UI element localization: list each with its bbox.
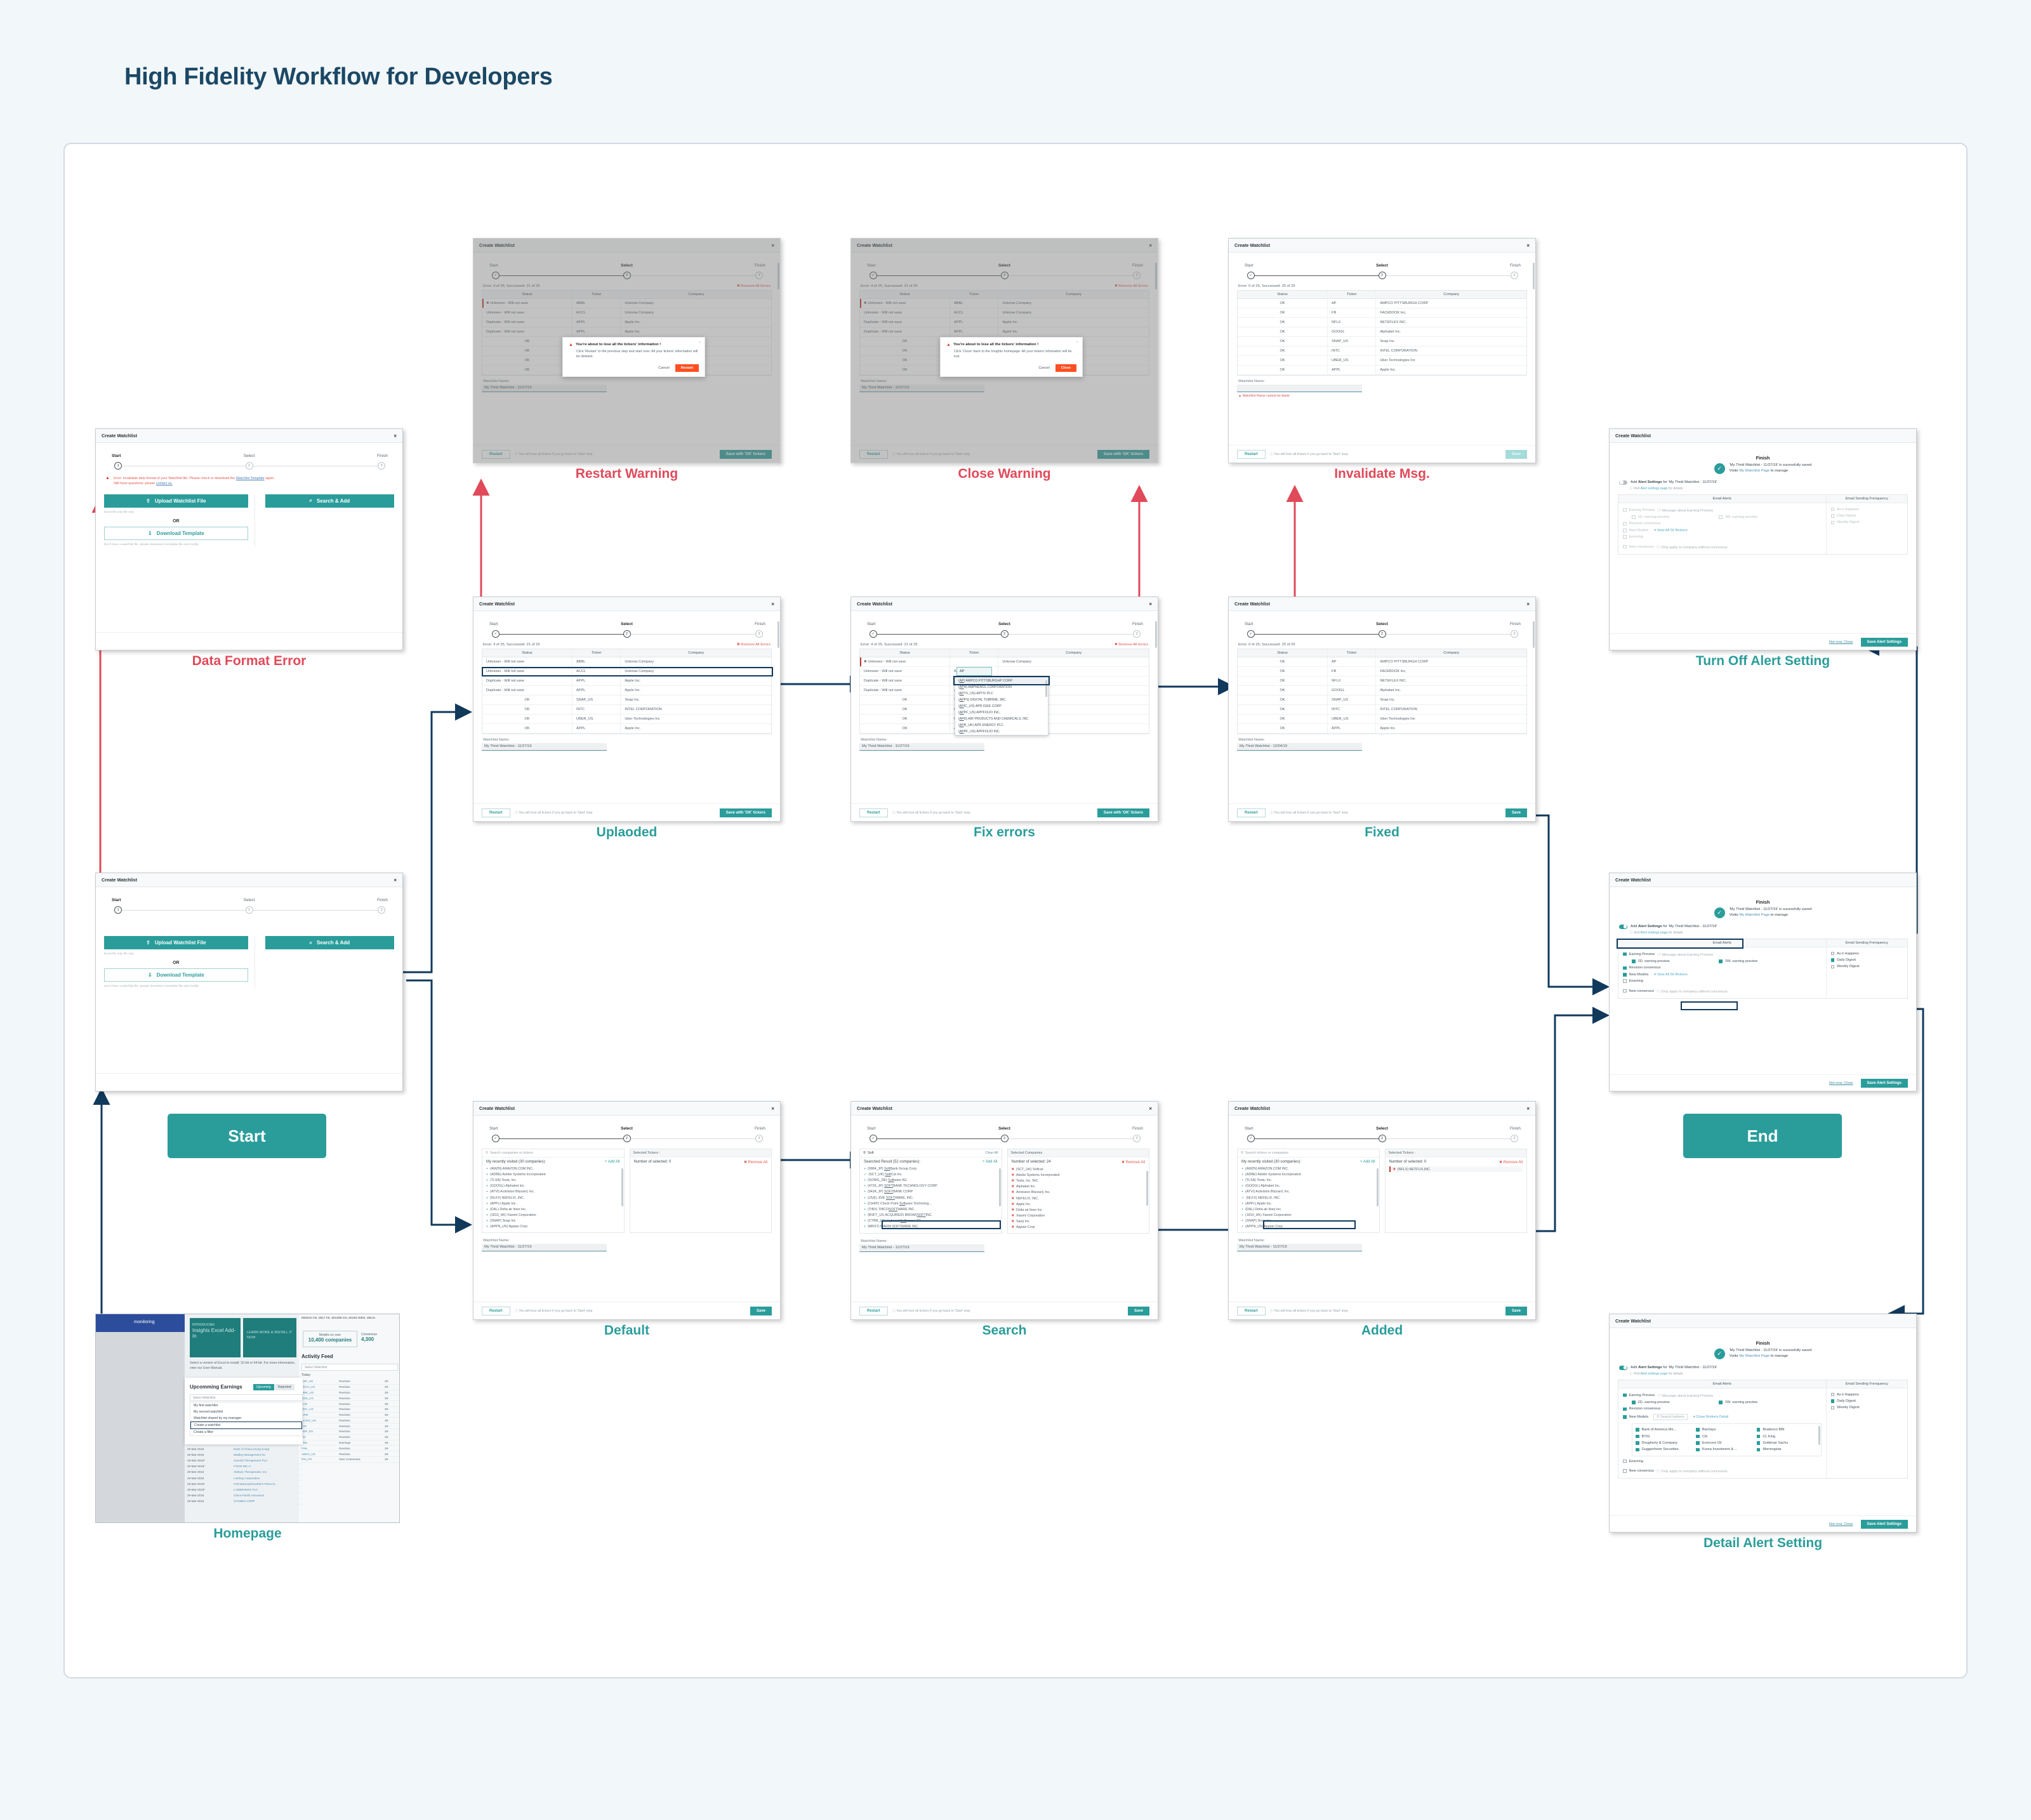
checkbox-frequency[interactable]: As it Happens [1831, 1392, 1903, 1398]
watchlist-name-input[interactable]: My Thrid Watchlist - 11/27/19 [859, 743, 984, 751]
promo-card[interactable]: INTRODUCINGInsights Excel Add-In [190, 1318, 241, 1357]
plus-icon[interactable]: + [1241, 1225, 1243, 1229]
cell-ticker[interactable]: ACCL [949, 308, 998, 317]
table-row[interactable]: OKGOOGLAlphabet Inc. [1238, 327, 1526, 337]
remove-all-errors-button[interactable]: ✖ Remove All Errors [1115, 643, 1148, 647]
search-input[interactable]: ⚲SoftClear All [860, 1149, 1002, 1157]
remove-all-errors-button[interactable]: ✖ Remove All Errors [737, 643, 771, 647]
list-item[interactable]: ✖(SCT_UK) Softcat [1012, 1166, 1146, 1172]
ticker-edit-input[interactable]: AP [956, 667, 992, 676]
table-scrollbar[interactable] [777, 263, 779, 289]
list-item[interactable]: +(TLSA) Tesla, Inc. [486, 1177, 620, 1183]
plus-icon[interactable]: + [486, 1202, 488, 1206]
list-item[interactable]: +(APPN_US) Appian Corp [486, 1224, 620, 1230]
checkbox-broker[interactable]: Evercore ISI [1696, 1440, 1756, 1446]
activity-row[interactable]: BDC_USRevision30- [301, 1407, 400, 1413]
alert-settings-toggle[interactable] [1619, 480, 1627, 485]
table-row[interactable]: ✖ Unknown - Will not saveABBLUnknow Comp… [482, 299, 771, 308]
close-icon[interactable]: × [771, 601, 774, 607]
checkbox-broker[interactable]: Dougherty & Company [1636, 1440, 1696, 1446]
list-item[interactable]: +(1810_HK) Xiaomi Corporation [1241, 1213, 1375, 1218]
restart-button[interactable]: Restart [859, 450, 888, 459]
plus-icon[interactable]: + [1241, 1167, 1243, 1171]
add-all-button[interactable]: + Add All [605, 1160, 620, 1164]
checkbox-frequency[interactable]: Daily Digest [1831, 1398, 1903, 1404]
list-item[interactable]: +(9984_JP) SoftBank Group Corp. [864, 1166, 998, 1171]
checkbox-broker[interactable]: Bank of America Me... [1636, 1427, 1696, 1433]
remove-icon[interactable]: ✖ [1012, 1220, 1014, 1223]
menu-item[interactable]: Create a filter [190, 1429, 302, 1435]
restart-button[interactable]: Restart [1237, 808, 1266, 817]
table-row[interactable]: Unknown - Will not saveACCL [860, 667, 1149, 676]
watchlist-name-input[interactable]: My Thrid Watchlist - 11/27/19 [482, 1244, 607, 1251]
cell-ticker[interactable]: UBER_US [572, 715, 621, 723]
table-row[interactable]: Duplicate - Will not saveAPPLApple Inc. [482, 318, 771, 327]
checkbox-broker[interactable]: Guggenheim Securities [1636, 1446, 1696, 1453]
remove-all-button[interactable]: ✖ Remove All [1121, 1160, 1145, 1164]
dropdown-option[interactable]: (APPF_US) APPFOLIO INC. [955, 709, 1048, 716]
watchlist-dropdown-menu[interactable]: My first watchlistMy second watchlistWat… [190, 1402, 303, 1436]
tab-upcoming[interactable]: Upcoming [253, 1384, 274, 1390]
brokers-scrollbar[interactable] [1818, 1426, 1820, 1445]
cell-ticker[interactable]: APPL [572, 676, 621, 685]
ticker-suggestions-dropdown[interactable]: (AP) AMPCO PITTSBURGHP CORP(APH) AMPHENO… [955, 677, 1049, 735]
plus-icon[interactable]: + [1241, 1178, 1243, 1182]
earnings-row[interactable]: 29-Mar-2018Lindsay Corporation [187, 1475, 303, 1481]
remove-icon[interactable]: ✖ [1012, 1168, 1014, 1171]
upload-watchlist-file-button[interactable]: ⇧Upload Watchlist File [104, 936, 248, 949]
checkbox-earning-preview[interactable]: Earning Previewⓘ Message about Earning P… [1623, 506, 1822, 514]
remove-icon[interactable]: ✖ [1012, 1214, 1014, 1218]
list-item[interactable]: +(9434_JP) SOFTBANK CORP [864, 1189, 998, 1195]
save-with-ok-tickers-button[interactable]: Save with 'OK' tickers [720, 450, 772, 459]
dropdown-option[interactable]: (APD) AIR PRODUCTS AND CHEMICALS, INC [955, 716, 1048, 722]
remove-all-errors-button[interactable]: ✖ Remove All Errors [737, 284, 771, 288]
earnings-row[interactable]: 29-Mar-2018Aldeyra Therapeutics, Inc [187, 1470, 303, 1475]
table-row[interactable]: Unknown - Will not saveABBLUnknow Compan… [482, 657, 771, 667]
list-item[interactable]: +(JIVE) JIVE SOFTWARE, INC. [864, 1195, 998, 1201]
table-row[interactable]: Duplicate - Will not saveAPPLApple Inc. [860, 327, 1149, 337]
download-template-button[interactable]: ⇩Download Template [104, 527, 248, 540]
restart-button[interactable]: Restart [482, 808, 510, 817]
list-item[interactable]: +(SNAP) Snap Inc [486, 1218, 620, 1224]
plus-icon[interactable]: + [864, 1167, 866, 1171]
promo-cta[interactable]: LEARN MORE & INSTALL IT NOW [243, 1318, 296, 1357]
checkbox-broker[interactable]: Citi [1696, 1433, 1756, 1439]
checkbox-2w-earning-preview[interactable]: 2W- earning preview [1719, 514, 1757, 520]
checkbox-revision-consensus[interactable]: Revision consensus [1623, 1406, 1822, 1412]
plus-icon[interactable]: + [864, 1202, 866, 1206]
save-alert-settings-button[interactable]: Save Alert Settings [1861, 1520, 1908, 1529]
checkbox-new-consensus[interactable]: New consensusⓘ Only apply to company wit… [1623, 987, 1822, 994]
list-item[interactable]: ✖NEFELIX, INC. [1012, 1196, 1146, 1201]
step-dot-2[interactable]: 2 [246, 462, 253, 470]
step-dot-3[interactable]: 3 [378, 906, 385, 914]
activity-row[interactable]: RDS_USRevision30- [301, 1395, 400, 1401]
checkbox-frequency[interactable]: As it Happens [1831, 506, 1903, 513]
alert-settings-page-link[interactable]: Alert settings page [1641, 1372, 1668, 1376]
table-row[interactable]: OKAPPLApple Inc. [1238, 366, 1526, 375]
remove-icon[interactable]: ✖ [1012, 1203, 1014, 1206]
add-all-button[interactable]: + Add All [982, 1160, 998, 1164]
table-row[interactable]: OKGOOGLAlphabet Inc. [1238, 686, 1526, 696]
list-item[interactable]: +(4726_JP) SOFTBANK TECHNOLOGY CORP. [864, 1184, 998, 1189]
dialog-confirm-button[interactable]: Close [1055, 364, 1076, 372]
restart-button[interactable]: Restart [1237, 1307, 1266, 1316]
list-item[interactable]: +(APPL) Apple Inc. [1241, 1201, 1375, 1206]
plus-icon[interactable]: + [486, 1190, 488, 1194]
plus-icon[interactable]: + [1241, 1190, 1243, 1194]
earnings-row[interactable]: 29-Mar-2018Bank of China (Hong Kong) [187, 1446, 303, 1452]
checkbox-2w-earning-preview[interactable]: 2W- earning preview [1719, 1399, 1757, 1406]
table-scrollbar[interactable] [777, 621, 779, 648]
checkbox-2d-earning-preview[interactable]: 2D- earning preview [1632, 958, 1719, 965]
save-button[interactable]: Save [1128, 1307, 1149, 1316]
watchlist-name-input[interactable]: My Thrid Watchlist - 11/27/19 [1237, 1244, 1362, 1251]
save-button[interactable]: Save [1505, 808, 1527, 817]
close-icon[interactable]: × [1149, 242, 1152, 248]
restart-button[interactable]: Restart [482, 450, 510, 459]
menu-item[interactable]: Create a watchlist [190, 1421, 302, 1429]
table-scrollbar[interactable] [1155, 263, 1157, 289]
activity-row[interactable]: FINLRevision30- [301, 1446, 400, 1451]
add-all-button[interactable]: + Add All [1360, 1160, 1375, 1164]
list-item[interactable]: ✖Adobe Systems Incorporated [1012, 1172, 1146, 1178]
dialog-confirm-button[interactable]: Restart [675, 364, 699, 372]
plus-icon[interactable]: + [864, 1208, 866, 1211]
checkbox-frequency[interactable]: Daily Digest [1831, 513, 1903, 519]
table-row[interactable]: OKSNAP_USSnap Inc. [482, 696, 771, 705]
step-dot-1[interactable]: 1 [114, 462, 122, 470]
menu-item[interactable]: Watchlist shared by my manager [190, 1415, 302, 1421]
watchlist-name-input[interactable]: My Thrid Watchlist - 11/27/19 [482, 385, 607, 392]
list-item[interactable]: +(AMZN) AMAZON.COM INC. [486, 1166, 620, 1171]
remove-icon[interactable]: ✖ [1012, 1179, 1014, 1183]
table-row[interactable]: OKAPAMPCO PITTSBURGH CORP [1238, 657, 1526, 667]
list-item[interactable]: +(SOWG_DE) Software AG [864, 1177, 998, 1183]
remove-all-button[interactable]: ✖ Remove All [1499, 1160, 1523, 1164]
checkbox-new-consensus[interactable]: New consensusⓘ Only apply to company wit… [1623, 1467, 1822, 1475]
checkbox-frequency[interactable]: Weekly Digest [1831, 519, 1903, 525]
activity-row[interactable]: FINLEarnings30- [301, 1441, 400, 1446]
checkbox-frequency[interactable]: Daily Digest [1831, 957, 1903, 963]
earnings-row[interactable]: 29-Mar-2018*First Bancorp/Southern Pines… [187, 1481, 303, 1487]
plus-icon[interactable]: + [864, 1184, 866, 1188]
checkbox-new-consensus[interactable]: New consensusⓘ Only apply to company wit… [1623, 543, 1822, 550]
list-item[interactable]: ✖Sanp Inc [1012, 1219, 1146, 1225]
checkbox-broker[interactable]: Bradesco BBI [1757, 1427, 1817, 1433]
plus-icon[interactable]: + [864, 1196, 866, 1200]
checkbox-2w-earning-preview[interactable]: 2W- earning preview [1719, 958, 1757, 965]
alert-settings-toggle[interactable] [1619, 925, 1627, 929]
plus-icon[interactable]: + [1241, 1213, 1243, 1217]
table-row[interactable]: Duplicate - Will not saveAPPLApple Inc. [482, 327, 771, 337]
close-icon[interactable]: × [1149, 1105, 1152, 1111]
activity-row[interactable]: COFRevision30- [301, 1401, 400, 1407]
dropdown-option[interactable]: (APR_UK) APR ENERGY PLC [955, 722, 1048, 729]
plus-icon[interactable]: + [864, 1219, 866, 1223]
alert-settings-page-link[interactable]: Alert settings page [1641, 487, 1668, 491]
watchlist-name-input[interactable]: My Thrid Watchlist - 12/04/19 [1237, 743, 1362, 751]
dialog-close-icon[interactable]: × [698, 341, 701, 345]
restart-button[interactable]: Restart [1237, 450, 1266, 459]
list-item[interactable]: ✓(NLFX) NEFELIX, INC. [1241, 1195, 1375, 1201]
cell-ticker[interactable]: APPL [949, 327, 998, 336]
search-and-add-button[interactable]: ⌕Search & Add [265, 494, 394, 508]
watchlist-name-input[interactable]: My Thrid Watchlist - 11/27/19 [482, 743, 607, 751]
table-row[interactable]: OKUBER_USUber Technologies Inc [1238, 715, 1526, 724]
checkbox-earning-preview[interactable]: Earning Previewⓘ Message about Earning P… [1623, 1392, 1822, 1399]
plus-icon[interactable]: + [486, 1178, 488, 1182]
save-button[interactable]: Save [750, 1307, 772, 1316]
table-row[interactable]: Unknown - Will not saveACCLUnknow Compan… [860, 308, 1149, 318]
list-item[interactable]: ✖Delta air lines Inc. [1012, 1207, 1146, 1213]
step-dot-2[interactable]: 2 [623, 272, 631, 279]
restart-button[interactable]: Restart [482, 1307, 510, 1316]
checkbox-frequency[interactable]: As it Happens [1831, 951, 1903, 957]
checkbox-broker[interactable]: Barclays [1696, 1427, 1756, 1433]
table-row[interactable]: ✖ Unknown - Will not saveABBLUnknow Comp… [860, 299, 1149, 308]
activity-row[interactable]: BGRevision30- [301, 1435, 400, 1441]
step-dot-2[interactable]: 2 [246, 906, 253, 914]
dropdown-option[interactable]: (APTV_US) APTIV PLC [955, 690, 1048, 697]
table-row[interactable]: OKINTCINTEL CORPORATION [1238, 705, 1526, 715]
my-watchlist-page-link[interactable]: My Watchlist Page [1739, 913, 1770, 917]
list-item[interactable]: +(AMZN) AMAZON.COM INC. [1241, 1166, 1375, 1171]
cell-ticker[interactable]: ABBL [572, 299, 621, 308]
close-icon[interactable]: × [1526, 601, 1530, 607]
plus-icon[interactable]: + [1241, 1184, 1243, 1188]
list-item[interactable]: +(ADBE) Adobe Systems Incorporated [1241, 1171, 1375, 1177]
table-row[interactable]: ✖ Unknown - Will not saveUnknow Company [860, 657, 1149, 667]
plus-icon[interactable]: + [486, 1184, 488, 1188]
check-icon[interactable]: ✓ [864, 1173, 866, 1177]
cell-ticker[interactable]: ACCL [572, 308, 621, 317]
table-row[interactable]: Unknown - Will not saveACCLUnknow Compan… [482, 308, 771, 318]
restart-button[interactable]: Restart [859, 808, 888, 817]
close-icon[interactable]: × [1149, 601, 1152, 607]
remove-icon[interactable]: ✖ [1012, 1190, 1014, 1194]
checkbox-2d-earning-preview[interactable]: 2D- earning preview [1632, 514, 1719, 520]
list-item[interactable]: +(1810_HK) Xiaomi Corporation [486, 1213, 620, 1218]
plus-icon[interactable]: + [486, 1167, 488, 1171]
pane-scrollbar[interactable] [1146, 1171, 1148, 1206]
remove-icon[interactable]: ✖ [1012, 1208, 1014, 1212]
step-dot-3[interactable]: 3 [378, 462, 385, 470]
cell-ticker[interactable]: ABBL [572, 657, 621, 666]
list-item[interactable]: ✖Activision Blizzard, Inc. [1012, 1190, 1146, 1196]
remove-icon[interactable]: ✖ [1012, 1185, 1014, 1189]
table-scrollbar[interactable] [1155, 621, 1157, 648]
plus-icon[interactable]: + [486, 1208, 488, 1211]
list-item[interactable]: +(ATVI) Activision Blizzard, Inc. [1241, 1189, 1375, 1195]
checkbox-new-models[interactable]: New Models⚲ Search borkers▾ Close Broker… [1623, 1413, 1822, 1421]
dropdown-option[interactable]: (APPS) DIGITAL TUBRINE, INC. [955, 697, 1048, 703]
not-now-close-link[interactable]: Not now, Close [1829, 1081, 1853, 1085]
plus-icon[interactable]: + [1241, 1219, 1243, 1223]
plus-icon[interactable]: + [864, 1178, 866, 1182]
earnings-row[interactable]: 29-Mar-2018SYNNEX CORP [187, 1499, 303, 1505]
plus-icon[interactable]: + [1241, 1208, 1243, 1211]
checkbox-broker[interactable]: CL King [1757, 1433, 1817, 1439]
cell-ticker[interactable] [949, 657, 998, 666]
table-row[interactable]: OKSNAP_USSnap Inc. [1238, 337, 1526, 346]
table-row[interactable]: OKNFLXNETEFLEX INC. [1238, 318, 1526, 327]
menu-item[interactable]: My second watchlist [190, 1409, 302, 1415]
my-watchlist-page-link[interactable]: My Watchlist Page [1739, 469, 1770, 473]
checkbox-earning-preview[interactable]: Earning Previewⓘ Message about Earning P… [1623, 951, 1822, 958]
watchlist-select[interactable]: Select Watchlist [190, 1394, 303, 1401]
list-item[interactable]: +(BSFT_US-ACQUIRED) BROADSOFTINC. [864, 1213, 998, 1218]
checkbox-eearning[interactable]: Eearning [1623, 978, 1822, 984]
cell-ticker[interactable]: ABBL [949, 299, 998, 308]
save-with-ok-tickers-button[interactable]: Save with 'OK' tickers [720, 808, 772, 817]
activity-row[interactable]: ABEO_USRevision30- [301, 1451, 400, 1457]
pane-scrollbar[interactable] [1377, 1168, 1379, 1206]
earnings-row[interactable]: 29-Mar-2018*LADBROKES PLC [187, 1487, 303, 1493]
restart-button[interactable]: Restart [859, 1307, 888, 1316]
cell-ticker[interactable]: APPL [572, 327, 621, 336]
remove-all-button[interactable]: ✖ Remove All [744, 1160, 767, 1164]
checkbox-broker[interactable]: Korea Investment & ... [1696, 1446, 1756, 1453]
cell-ticker[interactable]: APPL [572, 318, 621, 327]
plus-icon[interactable]: + [486, 1213, 488, 1217]
table-row[interactable]: Duplicate - Will not saveAPPLApple Inc. [860, 318, 1149, 327]
pane-scrollbar[interactable] [621, 1168, 623, 1206]
search-input[interactable]: ⚲Search tickers or companies [1238, 1149, 1379, 1157]
table-row[interactable]: Duplicate - Will not saveAPPLApple Inc. [482, 686, 771, 696]
plus-icon[interactable]: + [864, 1225, 866, 1229]
list-item[interactable]: +(TLSA) Tesla, Inc. [1241, 1177, 1375, 1183]
table-row[interactable]: OKAPPLApple Inc. [482, 724, 771, 734]
list-item[interactable]: +(APPL) Apple Inc. [486, 1201, 620, 1206]
close-icon[interactable]: × [394, 877, 397, 883]
activity-row[interactable]: REP_ESRevision30- [301, 1429, 400, 1435]
activity-row[interactable]: MNK_USRevision30- [301, 1390, 400, 1396]
earnings-row[interactable]: 29-Mar-2018*FXCM INC-A [187, 1464, 303, 1470]
activity-row[interactable]: SCWX_USRevision30- [301, 1418, 400, 1423]
close-brokers-detail-link[interactable]: ▾ Close Brokers Detail [1693, 1415, 1728, 1419]
upload-watchlist-file-button[interactable]: ⇧Upload Watchlist File [104, 494, 248, 508]
activity-row[interactable]: CRIRevision30- [301, 1423, 400, 1429]
checkbox-broker[interactable]: Goldman Sachs [1757, 1440, 1817, 1446]
table-row[interactable]: OKUBER_USUber Technologies Inc [1238, 356, 1526, 366]
menu-item[interactable]: My first watchlist [190, 1402, 302, 1409]
plus-icon[interactable]: + [486, 1173, 488, 1177]
watchlist-template-link[interactable]: Watchlist Template [236, 477, 265, 480]
earnings-row[interactable]: 29-Mar-2018China Pacific Insurance [187, 1493, 303, 1499]
plus-icon[interactable]: + [486, 1225, 488, 1229]
checkbox-revision-consensus[interactable]: Revision consensus [1623, 965, 1822, 971]
pane-scrollbar[interactable] [999, 1168, 1001, 1206]
checkbox-revision-consensus[interactable]: Revision consensus [1623, 520, 1822, 527]
my-watchlist-page-link[interactable]: My Watchlist Page [1739, 1354, 1770, 1358]
checkbox-broker[interactable]: BTIG [1636, 1433, 1696, 1439]
close-icon[interactable]: × [394, 433, 397, 439]
activity-row[interactable]: EXP_USRevision30- [301, 1379, 400, 1385]
dropdown-option[interactable]: (APPF_US) APPFOLIO INC. [955, 729, 1048, 735]
table-row[interactable]: Duplicate - Will not saveAPPLApple Inc. [482, 676, 771, 686]
checkbox-2d-earning-preview[interactable]: 2D- earning preview [1632, 1399, 1719, 1406]
search-and-add-button[interactable]: ⌕Search & Add [265, 936, 394, 949]
list-item[interactable]: +(GOOGL) Alphabet Inc. [1241, 1184, 1375, 1189]
plus-icon[interactable]: + [1241, 1202, 1243, 1206]
cell-ticker[interactable]: APPL [572, 686, 621, 695]
table-row[interactable]: OKFBFACEBOOK Inc, [1238, 308, 1526, 318]
activity-row[interactable]: TECH_USRevision30- [301, 1385, 400, 1390]
list-item[interactable]: +(TIBX) TIBCOSOFTWARE INC. [864, 1206, 998, 1212]
alert-settings-toggle[interactable] [1619, 1366, 1627, 1370]
checkbox-broker[interactable]: Morningstar [1757, 1446, 1817, 1453]
table-scrollbar[interactable] [1533, 621, 1535, 648]
activity-row[interactable]: CRMRevision30- [301, 1413, 400, 1418]
save-alert-settings-button[interactable]: Save Alert Settings [1861, 638, 1908, 647]
list-item[interactable]: ✓(SCT_UK) SoftCat Inc. [864, 1171, 998, 1177]
cell-ticker[interactable]: APPL [949, 318, 998, 327]
list-item[interactable]: ✖Appian Corp [1012, 1225, 1146, 1230]
dialog-cancel-button[interactable]: Cancel [1038, 366, 1049, 370]
earnings-row[interactable]: 29-Mar-2018*Summit Therapeutics PLC [187, 1458, 303, 1463]
plus-icon[interactable]: + [864, 1213, 866, 1217]
table-row[interactable]: OKINTCINTEL CORPORATION [1238, 346, 1526, 356]
step-dot-1[interactable]: ✓ [492, 272, 499, 279]
table-row[interactable]: OKUBER_USUber Technologies Inc [482, 715, 771, 724]
watchlist-name-input[interactable] [1237, 385, 1362, 392]
view-all-brokers-link[interactable]: ▾ View All 56 Brokers [1654, 973, 1687, 977]
list-item[interactable]: +(CHKP) Check Point Software Technolog..… [864, 1201, 998, 1206]
plus-icon[interactable]: + [486, 1219, 488, 1223]
list-item[interactable]: +(ADBE) Adobe Systems Incorporated [486, 1171, 620, 1177]
clear-all-button[interactable]: Clear All [985, 1151, 998, 1155]
watchlist-name-input[interactable]: My Thrid Watchlist - 11/27/19 [859, 385, 984, 392]
checkbox-frequency[interactable]: Weekly Digest [1831, 963, 1903, 970]
close-icon[interactable]: × [771, 1105, 774, 1111]
list-item[interactable]: +(DAL) Delta air lines Inc. [486, 1206, 620, 1212]
table-row[interactable]: OKAPAMPCO PITTSBURGH CORP [1238, 299, 1526, 308]
table-row[interactable]: OKAPPLApple Inc. [1238, 724, 1526, 734]
step-dot-1[interactable]: 1 [114, 906, 122, 914]
save-button[interactable]: Save [1505, 1307, 1527, 1316]
remove-all-errors-button[interactable]: ✖ Remove All Errors [1115, 284, 1148, 288]
not-now-close-link[interactable]: Not now, Close [1829, 1522, 1853, 1526]
list-item[interactable]: +(NLFX) NEFELIX, INC. [486, 1195, 620, 1201]
earnings-row[interactable]: 29-Mar-2018Medley Management Inc [187, 1452, 303, 1458]
activity-watchlist-select[interactable]: Select Watchlist [301, 1364, 398, 1371]
checkbox-eearning[interactable]: Eearning [1623, 534, 1822, 540]
plus-icon[interactable]: + [1241, 1173, 1243, 1177]
list-item[interactable]: ✖Apple Inc. [1012, 1201, 1146, 1207]
save-button[interactable]: Save [1505, 450, 1527, 459]
checkbox-new-models[interactable]: New Models▾ View All 56 Brokers [1623, 972, 1822, 978]
checkbox-new-models[interactable]: New Models▾ View All 56 Brokers [1623, 527, 1822, 534]
plus-icon[interactable]: + [486, 1196, 488, 1200]
remove-icon[interactable]: ✖ [1012, 1225, 1014, 1229]
table-row[interactable]: OKSNAP_USSnap Inc. [1238, 696, 1526, 705]
close-icon[interactable]: × [1526, 242, 1530, 248]
save-alert-settings-button[interactable]: Save Alert Settings [1861, 1079, 1908, 1088]
checkbox-frequency[interactable]: Weekly Digest [1831, 1404, 1903, 1411]
download-template-button[interactable]: ⇩Download Template [104, 968, 248, 982]
table-scrollbar[interactable] [1533, 263, 1535, 289]
list-item[interactable]: ✖Tesla, Inc. INC. [1012, 1178, 1146, 1184]
table-row[interactable]: OKINTCINTEL CORPORATION [482, 705, 771, 715]
close-icon[interactable]: × [771, 242, 774, 248]
remove-icon[interactable]: ✖ [1012, 1173, 1014, 1177]
remove-icon[interactable]: ✖ [1393, 1168, 1396, 1171]
remove-icon[interactable]: ✖ [1012, 1197, 1014, 1201]
view-all-brokers-link[interactable]: ▾ View All 56 Brokers [1654, 529, 1687, 532]
watchlist-name-input[interactable]: My Thrid Watchlist - 11/27/19 [859, 1244, 984, 1252]
